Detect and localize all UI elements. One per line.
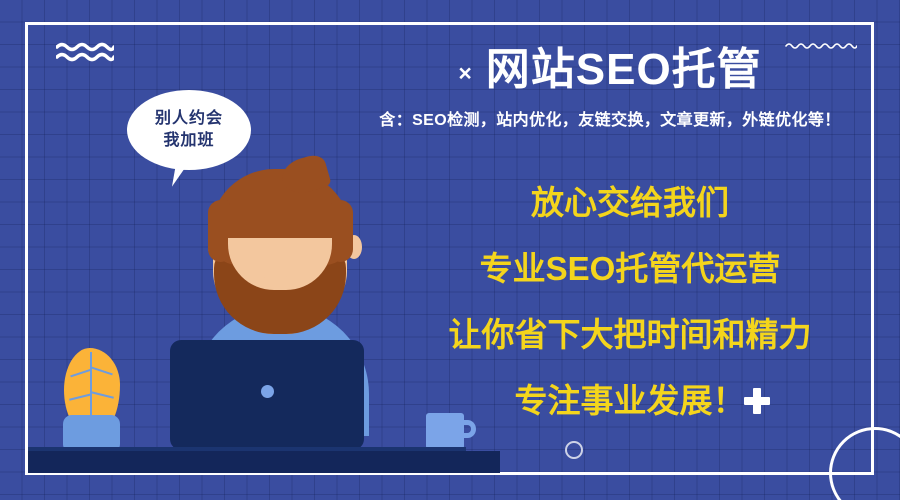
plant-vein-main xyxy=(90,352,92,422)
character-hair-side-right xyxy=(331,200,353,262)
wave-lines-decoration-left xyxy=(56,42,114,62)
page-title: 网站SEO托管 xyxy=(486,44,762,96)
corner-circle-decoration xyxy=(829,427,900,500)
desk-surface xyxy=(28,451,500,473)
speech-bubble-line-2: 我加班 xyxy=(163,130,214,152)
small-ring-decoration xyxy=(565,441,583,459)
laptop-logo-dot-icon xyxy=(261,385,274,398)
character-hair-side-left xyxy=(208,200,230,262)
wave-line-decoration-right xyxy=(785,41,857,51)
pitch-line-3: 让你省下大把时间和精力 xyxy=(395,318,865,351)
pitch-line-2: 专业SEO托管代运营 xyxy=(395,252,865,285)
pitch-line-1: 放心交给我们 xyxy=(395,186,865,219)
headline-block: × 网站SEO托管 含：SEO检测，站内优化，友链交换，文章更新，外链优化等！ xyxy=(330,44,890,130)
pitch-block: 放心交给我们 专业SEO托管代运营 让你省下大把时间和精力 专注事业发展！ xyxy=(395,186,865,417)
seo-promo-banner: 别人约会 我加班 × 网站SEO托管 含：SEO检测，站内优化，友链交换，文章更… xyxy=(0,0,900,500)
speech-bubble: 别人约会 我加班 xyxy=(127,90,251,170)
character-mouth xyxy=(256,276,304,289)
title-row: × 网站SEO托管 xyxy=(330,44,890,96)
speech-bubble-line-1: 别人约会 xyxy=(155,108,223,130)
pitch-line-4: 专注事业发展！ xyxy=(395,384,865,417)
plus-decoration-icon xyxy=(744,388,770,414)
cross-bullet-icon: × xyxy=(458,62,471,85)
page-subtitle: 含：SEO检测，站内优化，友链交换，文章更新，外链优化等！ xyxy=(330,106,890,130)
